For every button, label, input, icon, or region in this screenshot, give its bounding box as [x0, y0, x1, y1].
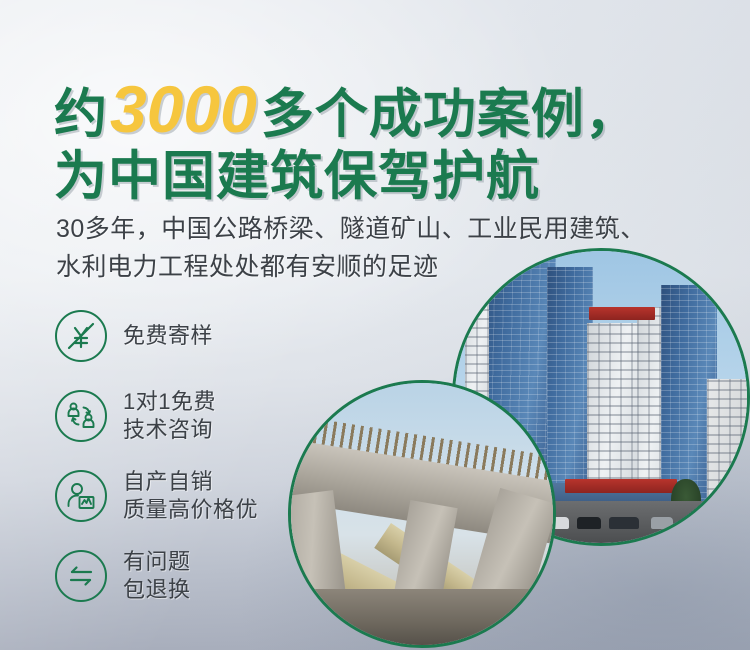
feature-label: 有问题 包退换 — [123, 548, 191, 604]
feature-label-line-2: 包退换 — [123, 576, 191, 604]
subtitle-line-1: 30多年，中国公路桥梁、隧道矿山、工业民用建筑、 — [56, 210, 736, 248]
feature-list: 免费寄样 1对1免费 技术咨询 — [55, 296, 315, 616]
headline-prefix: 约 — [54, 85, 108, 144]
feature-label: 免费寄样 — [123, 322, 213, 350]
headline-suffix: 多个成功案例， — [261, 85, 639, 144]
feature-item-free-sample: 免费寄样 — [55, 296, 315, 376]
feature-label-line-1: 有问题 — [123, 548, 191, 576]
headline-line-2: 为中国建筑保驾护航 — [54, 150, 714, 203]
one-on-one-consult-icon — [55, 390, 107, 442]
ground-rubble — [291, 589, 553, 645]
feature-label: 自产自销 质量高价格优 — [123, 468, 258, 524]
facade-sign — [565, 479, 677, 493]
exchange-return-icon — [55, 550, 107, 602]
car — [609, 517, 639, 529]
promo-banner: 约3000多个成功案例， 为中国建筑保驾护航 30多年，中国公路桥梁、隧道矿山、… — [0, 0, 750, 650]
feature-label-line-1: 免费寄样 — [123, 323, 213, 348]
feature-label-line-1: 1对1免费 — [123, 388, 216, 416]
far-right-building — [707, 379, 750, 517]
headline-line-1: 约3000多个成功案例， — [54, 76, 714, 142]
feature-label-line-2: 技术咨询 — [123, 416, 216, 444]
car — [577, 517, 601, 529]
rooftop-sign — [589, 307, 655, 320]
feature-label-line-1: 自产自销 — [123, 468, 258, 496]
feature-label: 1对1免费 技术咨询 — [123, 388, 216, 444]
feature-label-line-2: 质量高价格优 — [123, 496, 258, 524]
feature-item-consultation: 1对1免费 技术咨询 — [55, 376, 315, 456]
headline: 约3000多个成功案例， 为中国建筑保驾护航 — [54, 76, 714, 203]
free-yen-icon — [55, 310, 107, 362]
headline-line-2-text: 为中国建筑保驾护航 — [54, 147, 540, 206]
self-production-chart-icon — [55, 470, 107, 522]
bridge-photo — [288, 380, 556, 648]
car — [651, 517, 673, 529]
feature-item-self-production: 自产自销 质量高价格优 — [55, 456, 315, 536]
feature-item-return-exchange: 有问题 包退换 — [55, 536, 315, 616]
headline-number: 3000 — [108, 72, 261, 146]
